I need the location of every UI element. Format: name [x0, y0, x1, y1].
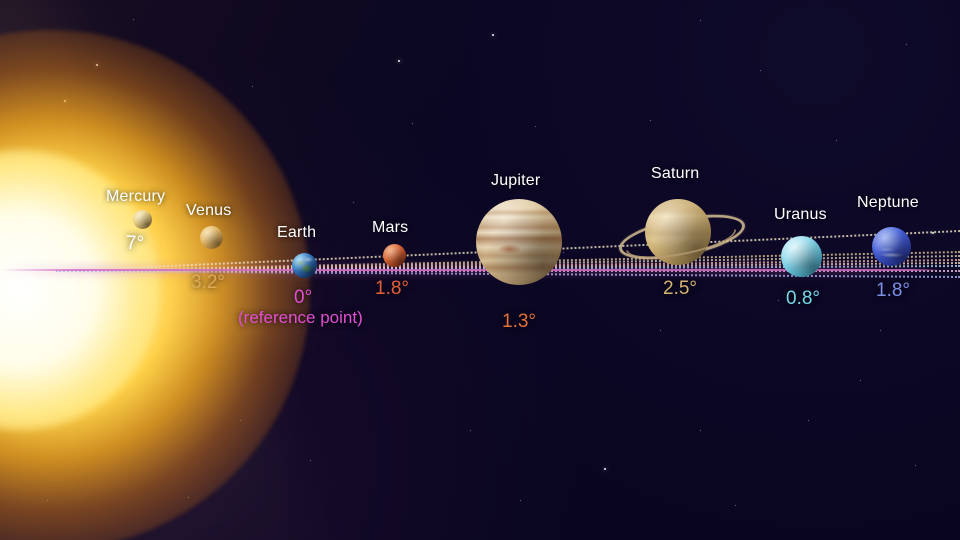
angle-neptune: 1.8°: [876, 280, 910, 302]
star: [353, 202, 354, 203]
angle-venus: 3.2°: [191, 272, 225, 294]
mercury-sheen: [133, 210, 152, 229]
angle-saturn: 2.5°: [663, 278, 697, 300]
jupiter-sheen: [476, 199, 562, 285]
label-mars: Mars: [372, 219, 408, 237]
venus-sheen: [200, 226, 223, 249]
planet-jupiter[interactable]: [476, 199, 562, 285]
star: [700, 430, 701, 431]
star: [310, 460, 311, 461]
star: [563, 252, 564, 253]
star: [520, 500, 521, 501]
label-earth: Earth: [277, 224, 316, 242]
star: [860, 380, 861, 381]
planet-mars[interactable]: [383, 244, 406, 267]
star: [660, 330, 661, 331]
star: [906, 44, 907, 45]
star: [252, 86, 253, 87]
star: [133, 19, 134, 20]
earth-sheen: [292, 253, 317, 278]
planet-uranus[interactable]: [781, 236, 822, 277]
star: [735, 505, 736, 506]
angle-uranus: 0.8°: [786, 288, 820, 310]
angle-jupiter: 1.3°: [502, 311, 536, 333]
star: [915, 465, 916, 466]
planet-neptune[interactable]: [872, 227, 911, 266]
star: [760, 70, 761, 71]
planet-earth[interactable]: [292, 253, 317, 278]
star: [470, 430, 471, 431]
angle-mercury: 7°: [126, 233, 144, 255]
angle-mars: 1.8°: [375, 278, 409, 300]
mars-sheen: [383, 244, 406, 267]
star: [808, 420, 809, 421]
angle-earth: 0°: [294, 287, 312, 309]
uranus-sheen: [781, 236, 822, 277]
star: [492, 34, 494, 36]
label-uranus: Uranus: [774, 206, 827, 224]
label-neptune: Neptune: [857, 194, 919, 212]
star: [535, 126, 536, 127]
label-saturn: Saturn: [651, 165, 699, 183]
star: [412, 123, 413, 124]
planet-mercury[interactable]: [133, 210, 152, 229]
star: [836, 140, 837, 141]
solar-system-diagram: Mercury 7° Venus 3.2° Earth 0° (referenc…: [0, 0, 960, 540]
label-jupiter: Jupiter: [491, 172, 540, 190]
star: [778, 300, 779, 301]
neptune-sheen: [872, 227, 911, 266]
label-mercury: Mercury: [106, 188, 165, 206]
star: [880, 330, 881, 331]
planet-venus[interactable]: [200, 226, 223, 249]
earth-reference-note: (reference point): [238, 308, 363, 328]
star: [604, 468, 606, 470]
label-venus: Venus: [186, 202, 231, 220]
star: [700, 20, 701, 21]
star: [650, 120, 651, 121]
star: [398, 60, 400, 62]
